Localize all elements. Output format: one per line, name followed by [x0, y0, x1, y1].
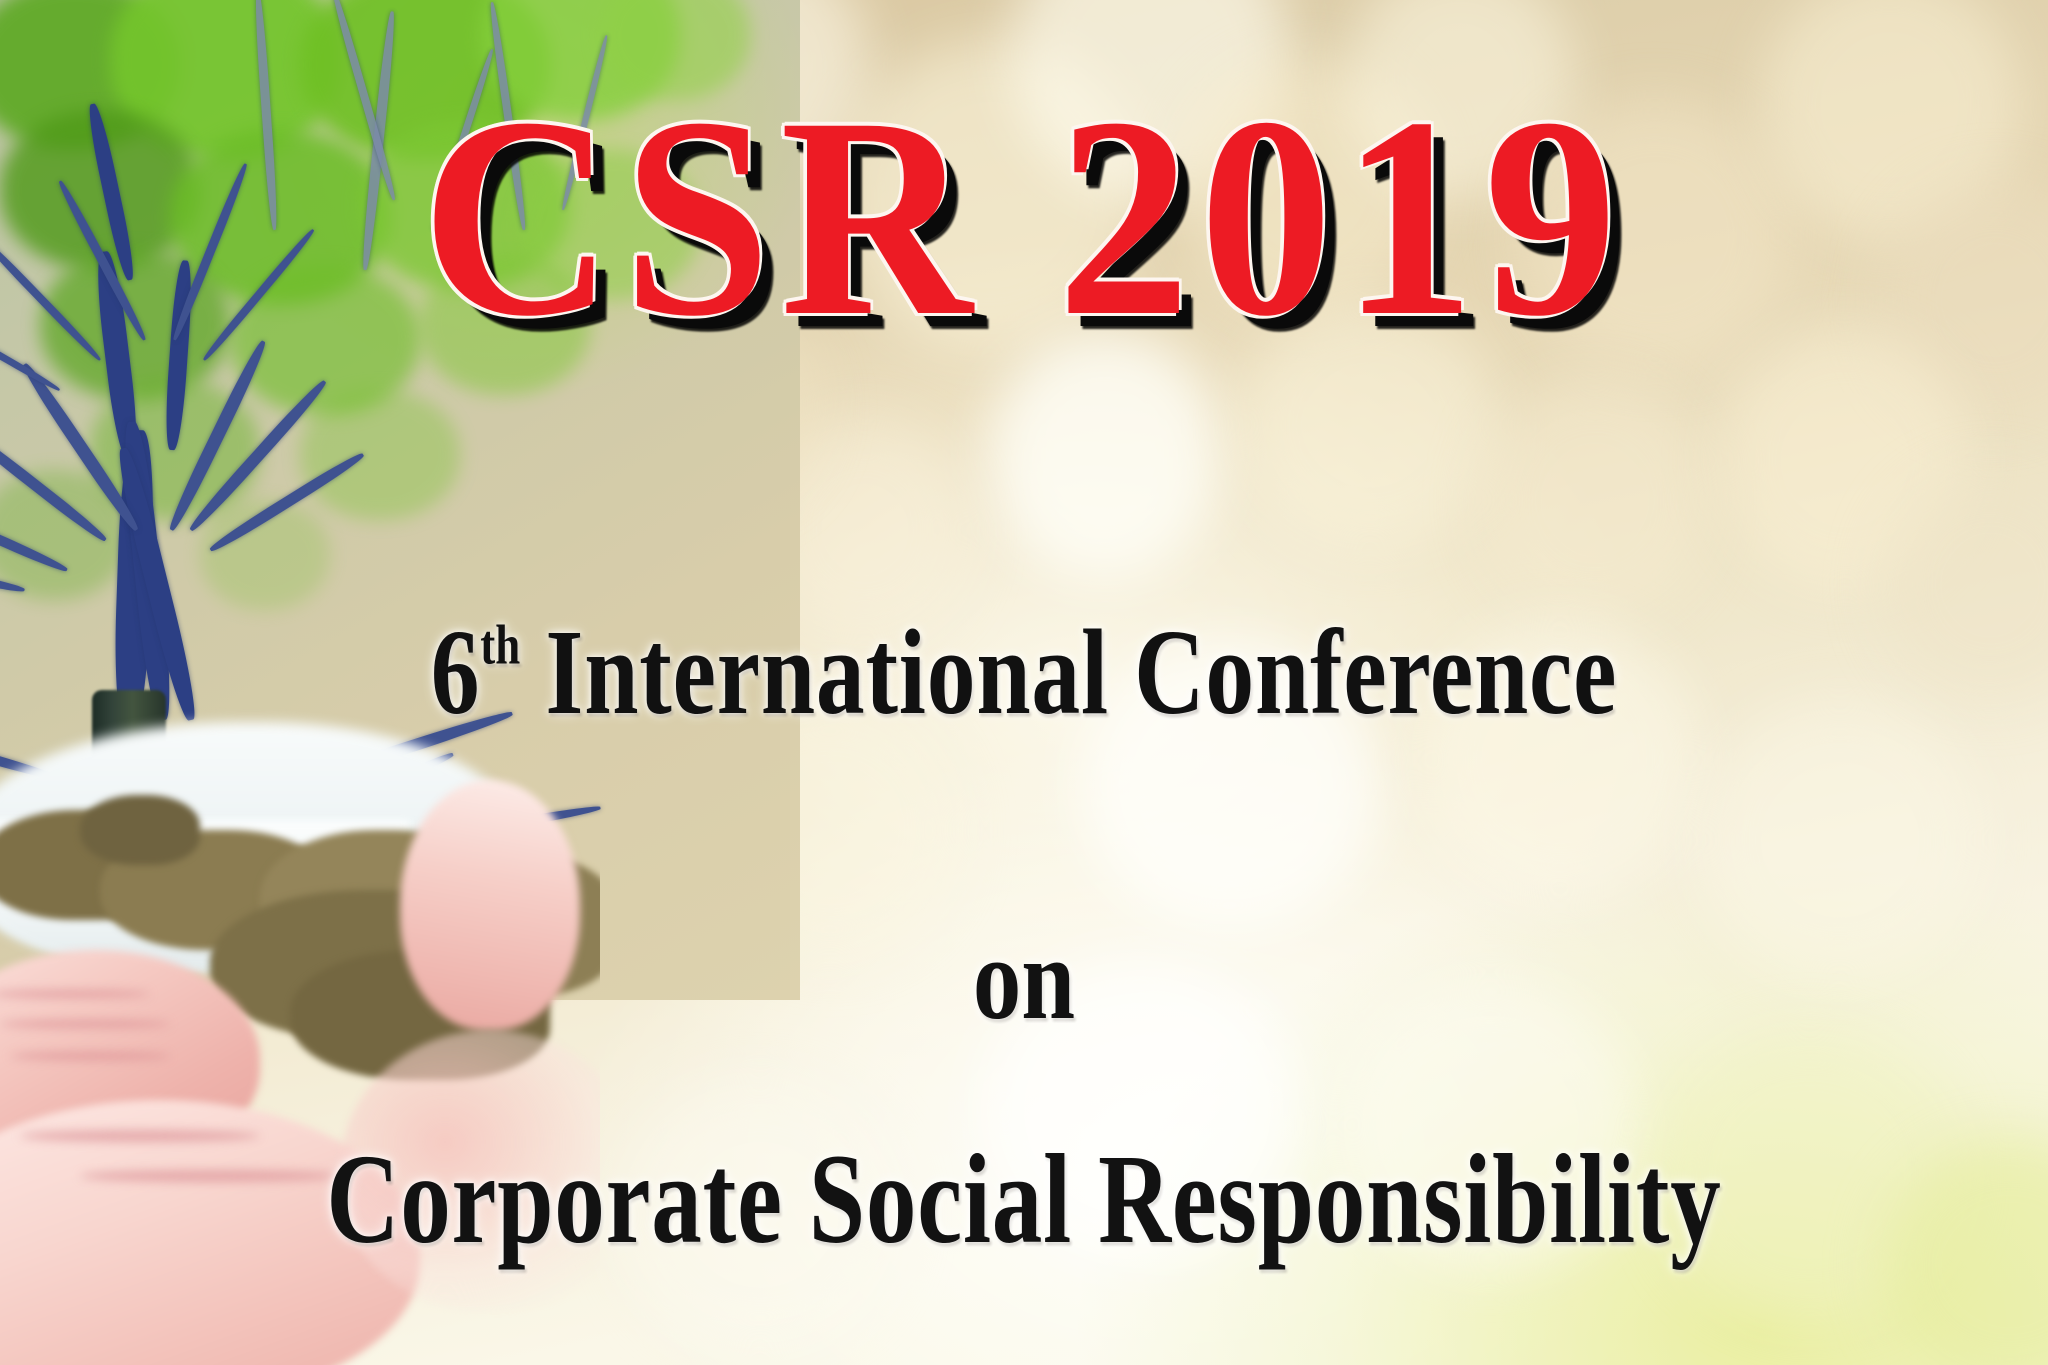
page-title: CSR 2019	[72, 74, 1977, 360]
conference-label: International Conference	[520, 605, 1617, 740]
preposition-on: on	[184, 920, 1863, 1038]
conference-ordinal-line: 6th International Conference	[205, 612, 1843, 734]
banner-text-layer: CSR 2019 6th International Conference on…	[0, 0, 2048, 1365]
conference-topic: Corporate Social Responsibility	[215, 1135, 1833, 1263]
ordinal-number: 6	[431, 605, 481, 740]
ordinal-suffix: th	[480, 615, 520, 677]
csr-conference-banner: CSR 2019 6th International Conference on…	[0, 0, 2048, 1365]
